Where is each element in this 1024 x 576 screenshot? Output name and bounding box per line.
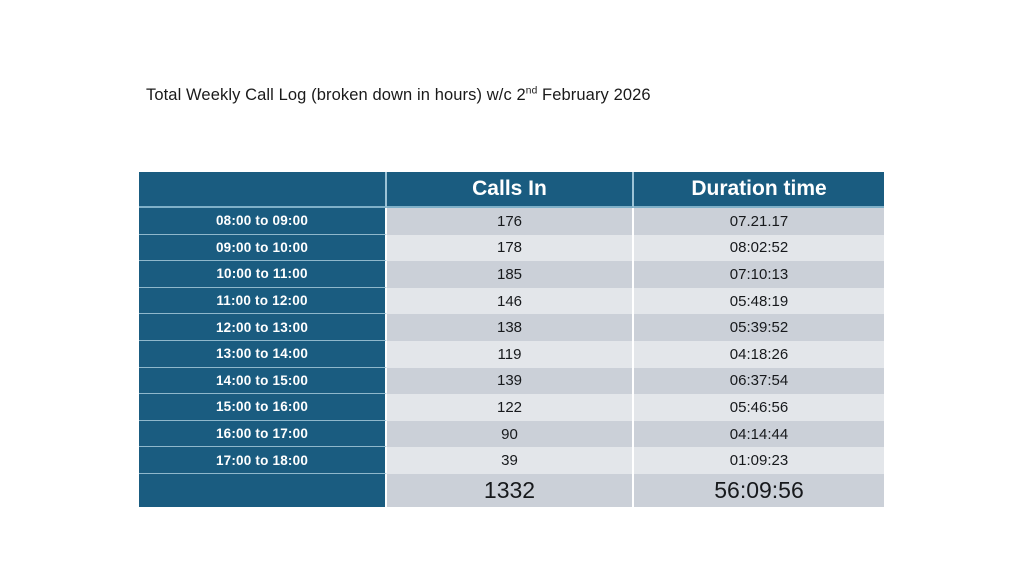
cell-calls-in: 39 xyxy=(387,447,634,474)
total-duration-time: 56:09:56 xyxy=(634,474,884,507)
page-title-prefix: Total Weekly Call Log (broken down in ho… xyxy=(146,86,526,104)
cell-calls-in: 146 xyxy=(387,288,634,315)
column-header-calls-in: Calls In xyxy=(387,172,634,208)
row-label-timeslot: 14:00 to 15:00 xyxy=(139,368,387,395)
slide-canvas: Total Weekly Call Log (broken down in ho… xyxy=(0,0,1024,576)
cell-duration-time: 07.21.17 xyxy=(634,208,884,235)
table-total-row: 1332 56:09:56 xyxy=(139,474,884,507)
cell-duration-time: 06:37:54 xyxy=(634,368,884,395)
row-label-timeslot: 15:00 to 16:00 xyxy=(139,394,387,421)
page-title-ordinal-suffix: nd xyxy=(526,86,538,97)
table-row: 14:00 to 15:00 139 06:37:54 xyxy=(139,368,884,395)
page-title: Total Weekly Call Log (broken down in ho… xyxy=(146,86,651,105)
cell-calls-in: 178 xyxy=(387,235,634,262)
row-label-timeslot: 16:00 to 17:00 xyxy=(139,421,387,448)
row-label-timeslot: 10:00 to 11:00 xyxy=(139,261,387,288)
call-log-table: Calls In Duration time 08:00 to 09:00 17… xyxy=(139,172,884,507)
cell-calls-in: 90 xyxy=(387,421,634,448)
cell-calls-in: 176 xyxy=(387,208,634,235)
total-row-label xyxy=(139,474,387,507)
column-header-timeslot xyxy=(139,172,387,208)
cell-calls-in: 138 xyxy=(387,314,634,341)
row-label-timeslot: 08:00 to 09:00 xyxy=(139,208,387,235)
table-row: 10:00 to 11:00 185 07:10:13 xyxy=(139,261,884,288)
table-row: 15:00 to 16:00 122 05:46:56 xyxy=(139,394,884,421)
cell-duration-time: 05:48:19 xyxy=(634,288,884,315)
row-label-timeslot: 17:00 to 18:00 xyxy=(139,447,387,474)
table-row: 08:00 to 09:00 176 07.21.17 xyxy=(139,208,884,235)
cell-duration-time: 04:14:44 xyxy=(634,421,884,448)
row-label-timeslot: 09:00 to 10:00 xyxy=(139,235,387,262)
table-body: 08:00 to 09:00 176 07.21.17 09:00 to 10:… xyxy=(139,208,884,507)
cell-calls-in: 119 xyxy=(387,341,634,368)
column-header-duration-time: Duration time xyxy=(634,172,884,208)
cell-duration-time: 05:39:52 xyxy=(634,314,884,341)
total-calls-in: 1332 xyxy=(387,474,634,507)
table-header-row: Calls In Duration time xyxy=(139,172,884,208)
cell-duration-time: 01:09:23 xyxy=(634,447,884,474)
table-row: 16:00 to 17:00 90 04:14:44 xyxy=(139,421,884,448)
cell-calls-in: 122 xyxy=(387,394,634,421)
table-row: 11:00 to 12:00 146 05:48:19 xyxy=(139,288,884,315)
table-row: 09:00 to 10:00 178 08:02:52 xyxy=(139,235,884,262)
cell-duration-time: 05:46:56 xyxy=(634,394,884,421)
cell-calls-in: 185 xyxy=(387,261,634,288)
page-title-suffix: February 2026 xyxy=(537,86,650,104)
cell-calls-in: 139 xyxy=(387,368,634,395)
table-row: 13:00 to 14:00 119 04:18:26 xyxy=(139,341,884,368)
cell-duration-time: 07:10:13 xyxy=(634,261,884,288)
table-header: Calls In Duration time xyxy=(139,172,884,208)
table-row: 12:00 to 13:00 138 05:39:52 xyxy=(139,314,884,341)
row-label-timeslot: 12:00 to 13:00 xyxy=(139,314,387,341)
cell-duration-time: 04:18:26 xyxy=(634,341,884,368)
row-label-timeslot: 13:00 to 14:00 xyxy=(139,341,387,368)
table-row: 17:00 to 18:00 39 01:09:23 xyxy=(139,447,884,474)
row-label-timeslot: 11:00 to 12:00 xyxy=(139,288,387,315)
cell-duration-time: 08:02:52 xyxy=(634,235,884,262)
